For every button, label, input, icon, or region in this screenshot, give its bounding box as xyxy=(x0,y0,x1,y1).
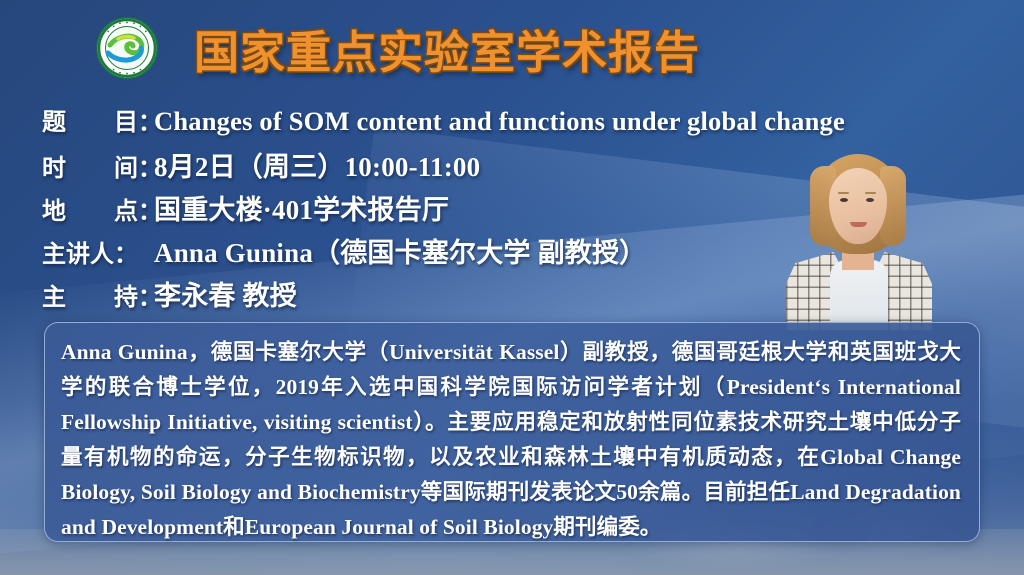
info-label-speaker: 主讲人： xyxy=(42,234,154,269)
seminar-poster: 国家重点实验室学术报告 题 目： Changes of SOM content … xyxy=(0,0,1024,575)
info-row-host: 主 持： 李永春 教授 xyxy=(42,274,1024,317)
info-value-topic: Changes of SOM content and functions und… xyxy=(154,106,845,137)
info-row-topic: 题 目： Changes of SOM content and function… xyxy=(42,102,1024,145)
info-label-time: 时 间： xyxy=(42,148,154,183)
info-value-time: 8月2日（周三）10:00-11:00 xyxy=(154,145,480,184)
info-label-host: 主 持： xyxy=(42,277,154,312)
speaker-biography-text: Anna Gunina，德国卡塞尔大学（Universität Kassel）副… xyxy=(61,335,961,545)
info-value-speaker: Anna Gunina（德国卡塞尔大学 副教授） xyxy=(154,231,646,270)
seminar-info-list: 题 目： Changes of SOM content and function… xyxy=(0,102,1024,317)
info-label-topic: 题 目： xyxy=(42,102,154,137)
state-key-laboratory-emblem-icon xyxy=(96,17,158,79)
page-title: 国家重点实验室学术报告 xyxy=(194,16,700,81)
info-value-host: 李永春 教授 xyxy=(154,274,297,313)
info-row-time: 时 间： 8月2日（周三）10:00-11:00 xyxy=(42,145,1024,188)
speaker-biography-box: Anna Gunina，德国卡塞尔大学（Universität Kassel）副… xyxy=(44,322,980,542)
poster-header: 国家重点实验室学术报告 xyxy=(0,0,1024,96)
info-row-speaker: 主讲人： Anna Gunina（德国卡塞尔大学 副教授） xyxy=(42,231,1024,274)
info-value-location: 国重大楼·401学术报告厅 xyxy=(154,188,449,227)
info-row-location: 地 点： 国重大楼·401学术报告厅 xyxy=(42,188,1024,231)
info-label-location: 地 点： xyxy=(42,191,154,226)
